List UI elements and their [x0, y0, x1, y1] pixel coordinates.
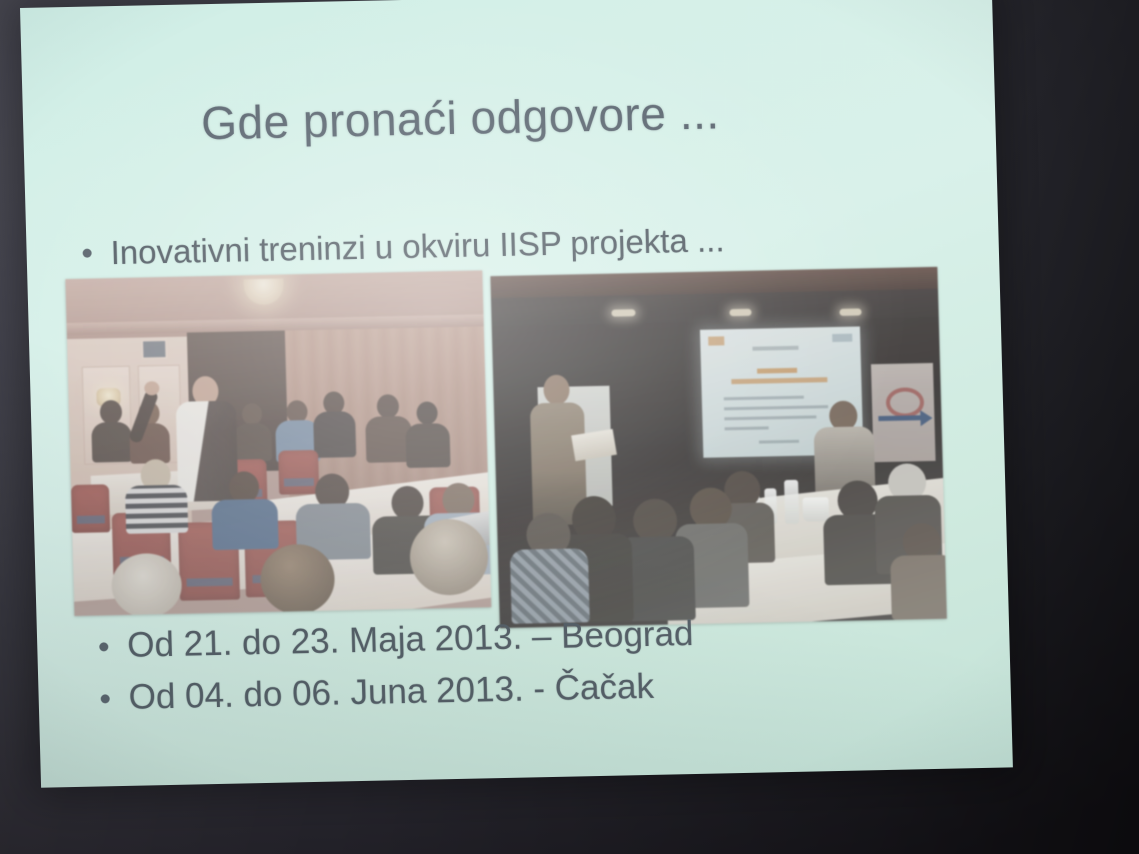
bullet-item-trainings: Inovativni treninzi u okviru IISP projek…	[82, 221, 725, 272]
bullet-marker-icon	[101, 694, 110, 703]
bullet-marker-icon	[83, 249, 92, 258]
bullet-item-beograd: Od 21. do 23. Maja 2013. – Beograd	[99, 614, 694, 666]
presentation-slide: Gde pronaći odgovore ... Inovativni tren…	[20, 0, 1013, 788]
photo-training-room-projection	[490, 267, 946, 628]
bullet-text: Inovativni treninzi u okviru IISP projek…	[110, 221, 725, 272]
photo-wash	[65, 270, 491, 616]
bullet-text: Od 21. do 23. Maja 2013. – Beograd	[127, 614, 694, 666]
bullet-item-cacak: Od 04. do 06. Juna 2013. - Čačak	[100, 667, 654, 719]
bullet-marker-icon	[99, 642, 108, 651]
photo-training-hall-belgrade	[65, 270, 491, 616]
slide-title: Gde pronaći odgovore ...	[200, 82, 901, 151]
photo-wash	[490, 267, 946, 628]
bullet-text: Od 04. do 06. Juna 2013. - Čačak	[128, 667, 654, 718]
projection-area: Gde pronaći odgovore ... Inovativni tren…	[0, 0, 1139, 854]
